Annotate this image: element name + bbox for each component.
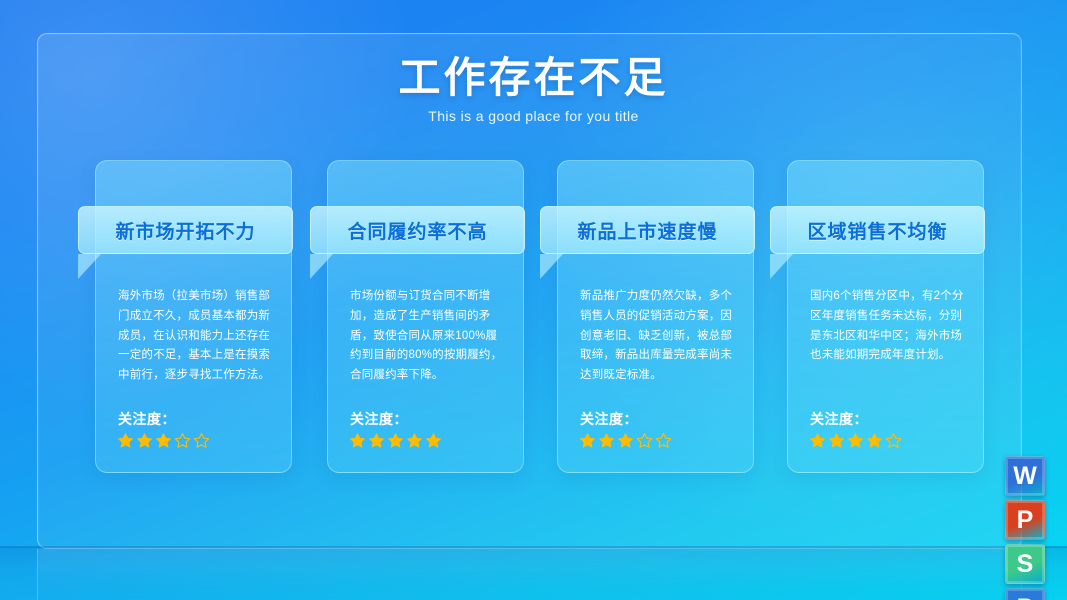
star-filled-icon[interactable] [387,432,404,449]
card-header-tail [78,254,101,279]
star-filled-icon[interactable] [579,432,596,449]
page-title: 工作存在不足 [0,55,1067,101]
star-filled-icon[interactable] [866,432,883,449]
card-title: 区域销售不均衡 [807,217,947,244]
card-star-rating[interactable] [349,432,442,449]
star-filled-icon[interactable] [617,432,634,449]
card-header-tab: 新品上市速度慢 [540,206,755,254]
card-header-tab: 新市场开拓不力 [78,206,293,254]
card-header-tab: 合同履约率不高 [310,206,525,254]
wps-icon-letter: W [1013,462,1037,491]
card-header-tab: 区域销售不均衡 [770,206,985,254]
card-rating-label: 关注度： [580,409,638,429]
cards-row: 新市场开拓不力 海外市场（拉美市场）销售部门成立不久，成员基本都为新成员，在认识… [95,160,995,475]
wps-icon-stack[interactable]: WPSP [1005,456,1049,600]
star-filled-icon[interactable] [117,432,134,449]
content-card[interactable]: 新市场开拓不力 海外市场（拉美市场）销售部门成立不久，成员基本都为新成员，在认识… [95,160,292,473]
card-header-tail [770,254,793,279]
card-header-tail [540,254,563,279]
wps-icon-letter: P [1017,506,1034,535]
slide-stage: 工作存在不足 This is a good place for you titl… [0,0,1067,600]
card-title: 新品上市速度慢 [577,217,717,244]
star-empty-icon[interactable] [885,432,902,449]
star-filled-icon[interactable] [598,432,615,449]
card-body-text: 海外市场（拉美市场）销售部门成立不久，成员基本都为新成员，在认识和能力上还存在一… [118,287,275,386]
star-filled-icon[interactable] [809,432,826,449]
card-title: 合同履约率不高 [347,217,487,244]
star-empty-icon[interactable] [193,432,210,449]
card-body-text: 国内6个销售分区中，有2个分区年度销售任务未达标，分别是东北区和华中区；海外市场… [810,287,967,366]
star-filled-icon[interactable] [847,432,864,449]
card-body-text: 市场份额与订货合同不断增加，造成了生产销售间的矛盾，致使合同从原来100%履约到… [350,287,507,386]
card-rating-label: 关注度： [118,409,176,429]
title-block: 工作存在不足 This is a good place for you titl… [0,55,1067,124]
card-title: 新市场开拓不力 [115,217,255,244]
card-star-rating[interactable] [809,432,902,449]
content-card[interactable]: 区域销售不均衡 国内6个销售分区中，有2个分区年度销售任务未达标，分别是东北区和… [787,160,984,473]
card-rating-label: 关注度： [810,409,868,429]
wps-presentation-icon[interactable]: P [1005,500,1045,540]
star-filled-icon[interactable] [406,432,423,449]
star-empty-icon[interactable] [636,432,653,449]
card-star-rating[interactable] [117,432,210,449]
wps-pdf-icon[interactable]: P [1005,588,1045,600]
content-card[interactable]: 新品上市速度慢 新品推广力度仍然欠缺，多个销售人员的促销活动方案，因创意老旧、缺… [557,160,754,473]
star-filled-icon[interactable] [368,432,385,449]
glass-panel-reflection [37,549,1022,600]
star-filled-icon[interactable] [828,432,845,449]
star-filled-icon[interactable] [155,432,172,449]
star-filled-icon[interactable] [425,432,442,449]
wps-spreadsheet-icon[interactable]: S [1005,544,1045,584]
star-filled-icon[interactable] [349,432,366,449]
card-star-rating[interactable] [579,432,672,449]
card-body-text: 新品推广力度仍然欠缺，多个销售人员的促销活动方案，因创意老旧、缺乏创新，被总部取… [580,287,737,386]
wps-icon-letter: S [1017,550,1034,579]
wps-writer-icon[interactable]: W [1005,456,1045,496]
star-empty-icon[interactable] [174,432,191,449]
card-header-tail [310,254,333,279]
page-subtitle: This is a good place for you title [0,108,1067,124]
wps-icon-letter: P [1017,594,1034,600]
content-card[interactable]: 合同履约率不高 市场份额与订货合同不断增加，造成了生产销售间的矛盾，致使合同从原… [327,160,524,473]
star-empty-icon[interactable] [655,432,672,449]
floor-reflection-band [0,547,1067,600]
card-rating-label: 关注度： [350,409,408,429]
star-filled-icon[interactable] [136,432,153,449]
